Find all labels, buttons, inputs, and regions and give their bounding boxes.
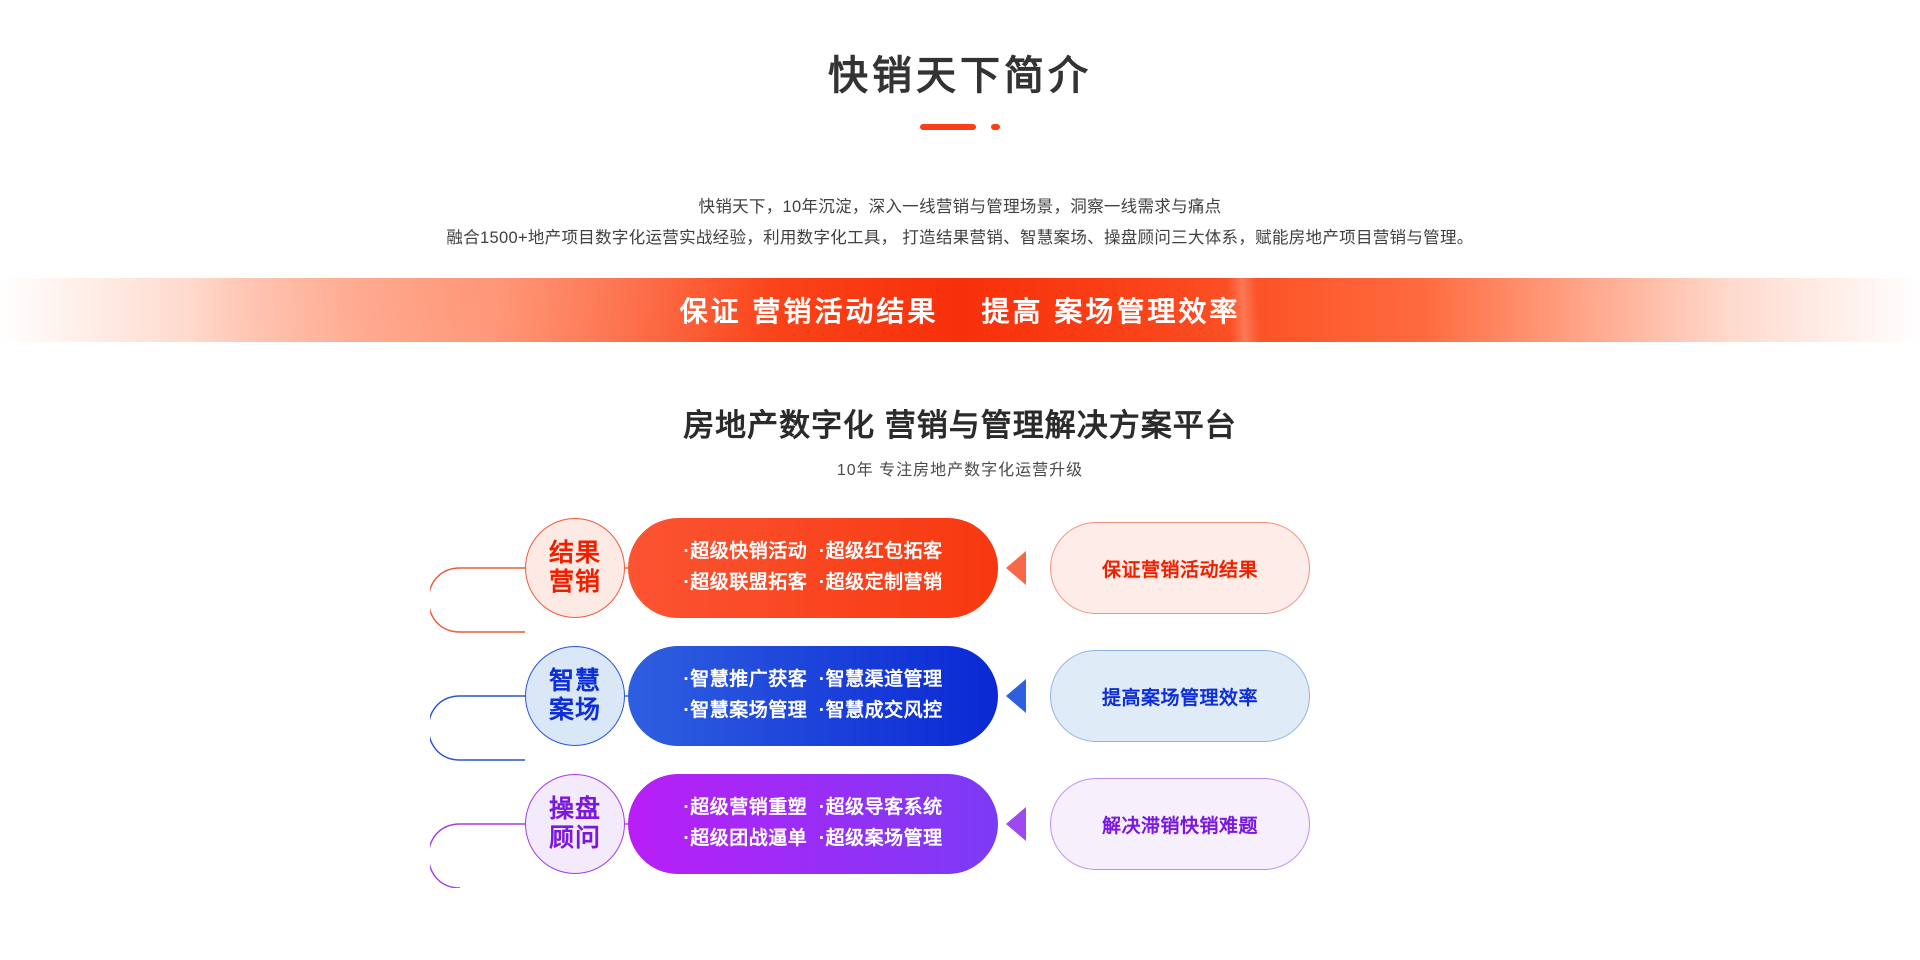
category-circle-result-marketing[interactable]: 结果 营销 bbox=[525, 518, 625, 618]
category-circle-operation-advisor[interactable]: 操盘 顾问 bbox=[525, 774, 625, 874]
outcome-badge-row-1[interactable]: 保证营销活动结果 bbox=[1050, 522, 1310, 614]
pill-line-1: ·超级营销重塑 ·超级导客系统 bbox=[683, 793, 942, 824]
pill-line-2: ·超级联盟拓客 ·超级定制营销 bbox=[683, 568, 942, 599]
outcome-badge-row-2[interactable]: 提高案场管理效率 bbox=[1050, 650, 1310, 742]
divider-bar-icon bbox=[920, 124, 976, 130]
divider-dot-icon bbox=[991, 124, 1000, 130]
circle-label-line-1: 结果 bbox=[549, 539, 601, 569]
page-title: 快销天下简介 bbox=[0, 52, 1920, 100]
feature-pill-smart-showroom[interactable]: ·智慧推广获客 ·智慧渠道管理 ·智慧案场管理 ·智慧成交风控 bbox=[628, 646, 998, 746]
feature-pill-operation-advisor[interactable]: ·超级营销重塑 ·超级导客系统 ·超级团战逼单 ·超级案场管理 bbox=[628, 774, 998, 874]
pill-line-1: ·智慧推广获客 ·智慧渠道管理 bbox=[683, 665, 942, 696]
promo-banner: 保证 营销活动结果 提高 案场管理效率 bbox=[0, 278, 1920, 342]
title-divider-icon bbox=[920, 124, 1000, 130]
circle-label-line-1: 智慧 bbox=[549, 667, 601, 697]
page-header: 快销天下简介 bbox=[0, 0, 1920, 130]
solution-heading-block: 房地产数字化 营销与管理解决方案平台 10年 专注房地产数字化运营升级 bbox=[0, 400, 1920, 480]
circle-label-line-2: 案场 bbox=[549, 696, 601, 726]
pill-line-1: ·超级快销活动 ·超级红包拓客 bbox=[683, 537, 942, 568]
feature-pill-result-marketing[interactable]: ·超级快销活动 ·超级红包拓客 ·超级联盟拓客 ·超级定制营销 bbox=[628, 518, 998, 618]
pill-line-2: ·智慧案场管理 ·智慧成交风控 bbox=[683, 696, 942, 727]
circle-label-line-2: 顾问 bbox=[549, 824, 601, 854]
intro-line-1: 快销天下，10年沉淀，深入一线营销与管理场景，洞察一线需求与痛点 bbox=[0, 192, 1920, 223]
arrow-left-icon-row-1 bbox=[1006, 551, 1026, 585]
circle-label-line-2: 营销 bbox=[549, 568, 601, 598]
intro-line-2: 融合1500+地产项目数字化运营实战经验，利用数字化工具， 打造结果营销、智慧案… bbox=[0, 223, 1920, 254]
page-root: 快销天下简介 快销天下，10年沉淀，深入一线营销与管理场景，洞察一线需求与痛点 … bbox=[0, 0, 1920, 960]
diagram-row-2: 智慧 案场 ·智慧推广获客 ·智慧渠道管理 ·智慧案场管理 ·智慧成交风控 提高… bbox=[430, 646, 1490, 746]
solution-diagram: 结果 营销 ·超级快销活动 ·超级红包拓客 ·超级联盟拓客 ·超级定制营销 保证… bbox=[430, 508, 1490, 888]
solution-subtitle: 10年 专注房地产数字化运营升级 bbox=[0, 456, 1920, 480]
arrow-left-icon-row-3 bbox=[1006, 807, 1026, 841]
solution-title: 房地产数字化 营销与管理解决方案平台 bbox=[0, 400, 1920, 445]
arrow-left-icon-row-2 bbox=[1006, 679, 1026, 713]
diagram-row-1: 结果 营销 ·超级快销活动 ·超级红包拓客 ·超级联盟拓客 ·超级定制营销 保证… bbox=[430, 518, 1490, 618]
outcome-badge-row-3[interactable]: 解决滞销快销难题 bbox=[1050, 778, 1310, 870]
promo-banner-text: 保证 营销活动结果 提高 案场管理效率 bbox=[680, 290, 1241, 330]
intro-paragraph: 快销天下，10年沉淀，深入一线营销与管理场景，洞察一线需求与痛点 融合1500+… bbox=[0, 192, 1920, 254]
circle-label-line-1: 操盘 bbox=[549, 795, 601, 825]
diagram-row-3: 操盘 顾问 ·超级营销重塑 ·超级导客系统 ·超级团战逼单 ·超级案场管理 解决… bbox=[430, 774, 1490, 874]
pill-line-2: ·超级团战逼单 ·超级案场管理 bbox=[683, 824, 942, 855]
category-circle-smart-showroom[interactable]: 智慧 案场 bbox=[525, 646, 625, 746]
